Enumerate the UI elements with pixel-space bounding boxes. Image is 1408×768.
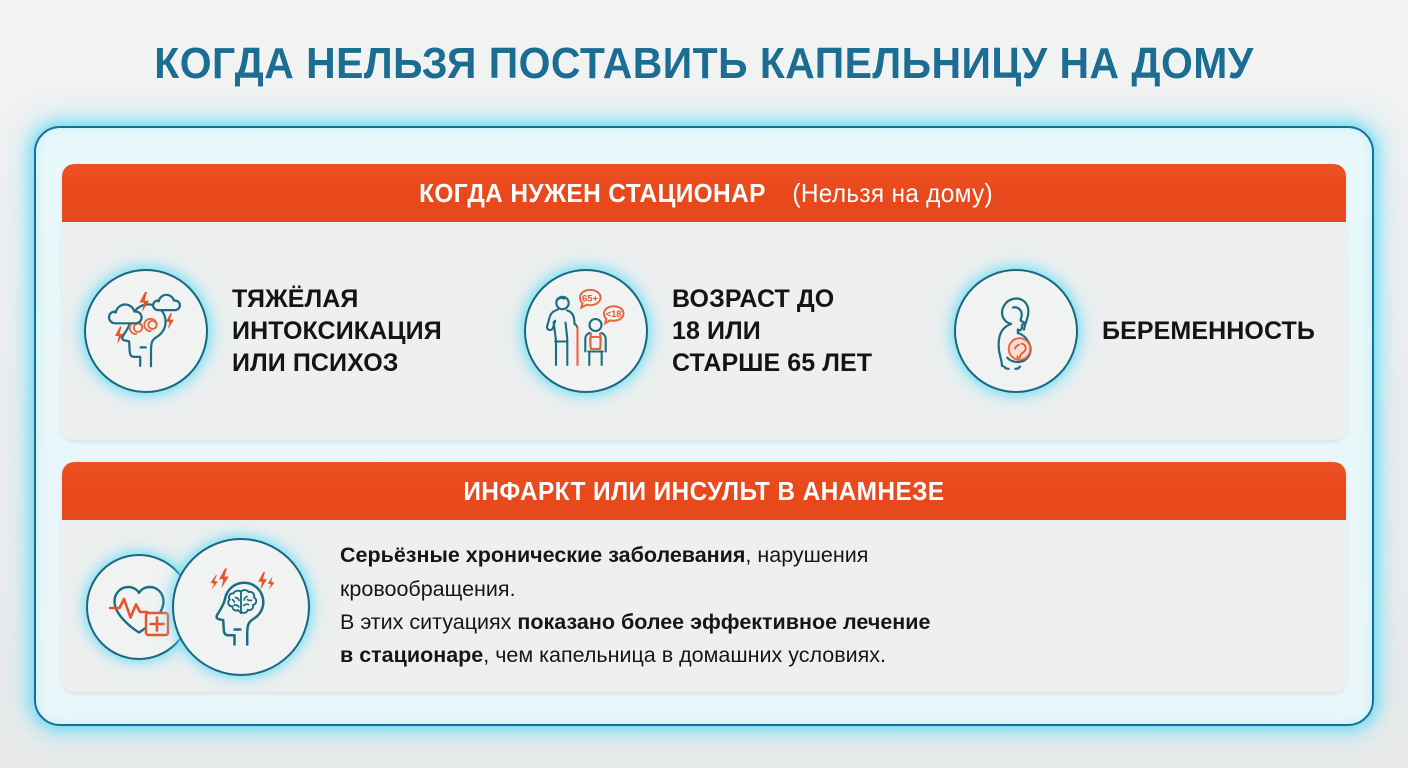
label-line: ТЯЖЁЛАЯ (232, 283, 442, 315)
item-age-limits-label: ВОЗРАСТ ДО 18 ИЛИ СТАРШЕ 65 ЛЕТ (672, 283, 872, 379)
svg-text:<18: <18 (606, 309, 621, 319)
label-line: ИНТОКСИКАЦИЯ (232, 315, 442, 347)
bottom-paragraph: Серьёзные хронические заболевания, наруш… (340, 539, 930, 672)
paragraph-bold-hospital: в стационаре (340, 643, 483, 667)
paragraph-text: , чем капельница в домашних условиях. (483, 643, 886, 667)
paragraph-bold-chronic: Серьёзные хронические заболевания (340, 543, 745, 567)
banner-heart-attack-stroke-strong: ИНФАРКТ ИЛИ ИНСУЛЬТ В АНАМНЕЗЕ (463, 476, 944, 507)
paragraph-line-4: в стационаре, чем капельница в домашних … (340, 639, 930, 672)
label-line: СТАРШЕ 65 ЛЕТ (672, 347, 872, 379)
item-intoxication-label: ТЯЖЁЛАЯ ИНТОКСИКАЦИЯ ИЛИ ПСИХОЗ (232, 283, 442, 379)
paragraph-bold-effective: показано более эффективное лечение (517, 610, 930, 634)
head-storm-clouds-icon (84, 269, 208, 393)
items-row: ТЯЖЁЛАЯ ИНТОКСИКАЦИЯ ИЛИ ПСИХОЗ (62, 222, 1346, 440)
card-hospital-required: КОГДА НУЖЕН СТАЦИОНАР (Нельзя на дому) (62, 164, 1346, 440)
head-brain-stroke-icon (172, 538, 310, 676)
paragraph-line-1: Серьёзные хронические заболевания, наруш… (340, 539, 930, 572)
paragraph-text: В этих ситуациях (340, 610, 517, 634)
svg-text:65+: 65+ (582, 294, 599, 305)
paragraph-line-2: кровообращения. (340, 573, 930, 606)
paragraph-text: , нарушения (745, 543, 868, 567)
pregnant-woman-icon (954, 269, 1078, 393)
banner-hospital-required-light: (Нельзя на дому) (793, 178, 993, 209)
item-pregnancy: БЕРЕМЕННОСТЬ (954, 269, 1324, 393)
label-line: 18 ИЛИ (672, 315, 872, 347)
banner-hospital-required-strong: КОГДА НУЖЕН СТАЦИОНАР (419, 178, 766, 209)
label-line: БЕРЕМЕННОСТЬ (1102, 315, 1315, 347)
elderly-and-child-icon: 65+ <18 (524, 269, 648, 393)
label-line: ВОЗРАСТ ДО (672, 283, 872, 315)
item-age-limits: 65+ <18 ВОЗРАСТ ДО 18 ИЛИ СТАРШЕ 65 ЛЕТ (524, 269, 954, 393)
dual-icon-group (84, 536, 314, 676)
bottom-body: Серьёзные хронические заболевания, наруш… (62, 520, 1346, 692)
banner-heart-attack-stroke: ИНФАРКТ ИЛИ ИНСУЛЬТ В АНАМНЕЗЕ (62, 462, 1346, 520)
paragraph-line-3: В этих ситуациях показано более эффектив… (340, 606, 930, 639)
label-line: ИЛИ ПСИХОЗ (232, 347, 442, 379)
infographic-frame: КОГДА НУЖЕН СТАЦИОНАР (Нельзя на дому) (34, 126, 1374, 726)
page-title: КОГДА НЕЛЬЗЯ ПОСТАВИТЬ КАПЕЛЬНИЦУ НА ДОМ… (49, 0, 1358, 86)
item-pregnancy-label: БЕРЕМЕННОСТЬ (1102, 315, 1315, 347)
item-intoxication: ТЯЖЁЛАЯ ИНТОКСИКАЦИЯ ИЛИ ПСИХОЗ (84, 269, 524, 393)
card-heart-attack-stroke: ИНФАРКТ ИЛИ ИНСУЛЬТ В АНАМНЕЗЕ (62, 462, 1346, 692)
banner-hospital-required: КОГДА НУЖЕН СТАЦИОНАР (Нельзя на дому) (62, 164, 1346, 222)
